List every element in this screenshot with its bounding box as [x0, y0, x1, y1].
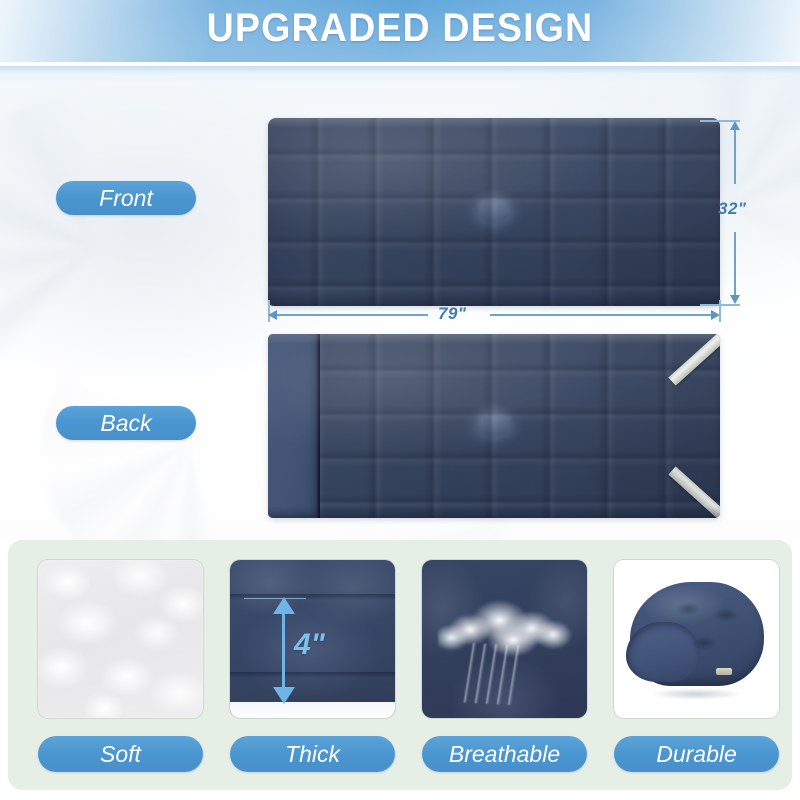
tuft-dimple — [706, 606, 746, 624]
height-tick-bottom — [700, 304, 740, 306]
thickness-arrow-shaft — [282, 602, 285, 698]
width-line-right — [490, 314, 712, 316]
feature-image-soft — [38, 560, 203, 718]
mattress-back-view — [268, 334, 720, 518]
height-line-top — [734, 128, 736, 184]
feature-panel: 4" Soft Thick Breathable — [8, 540, 792, 790]
width-value: 79" — [438, 304, 466, 324]
feature-label-soft-text: Soft — [100, 741, 141, 768]
height-arrow-bottom — [730, 295, 740, 304]
feature-label-soft: Soft — [38, 736, 203, 772]
thickness-arrow-head-bottom — [273, 687, 295, 704]
banner-underglow — [0, 66, 800, 82]
quilt-seam — [230, 672, 395, 678]
mattress-front-view — [268, 118, 720, 306]
mattress-bottom-edge — [268, 506, 720, 518]
page-title: UPGRADED DESIGN — [24, 6, 776, 51]
view-label-front-text: Front — [99, 185, 153, 212]
tuft-dimple — [684, 634, 724, 652]
feature-label-thick: Thick — [230, 736, 395, 772]
feature-label-breathable-text: Breathable — [449, 741, 560, 768]
thickness-value: 4" — [294, 628, 325, 662]
tuft-dimple — [668, 600, 708, 618]
feature-image-durable — [614, 560, 779, 718]
fabric-sheen — [268, 334, 720, 518]
width-line-left — [276, 314, 428, 316]
feature-image-breathable — [422, 560, 587, 718]
fabric-sheen — [268, 118, 720, 306]
width-arrow-left — [268, 310, 277, 320]
mattress-top-edge — [268, 118, 720, 128]
feature-image-thick: 4" — [230, 560, 395, 718]
width-arrow-right — [711, 310, 720, 320]
quilt-seam — [230, 594, 395, 600]
height-value: 32" — [718, 199, 746, 219]
roll-fold — [626, 622, 700, 682]
feature-label-breathable: Breathable — [422, 736, 587, 772]
air-cloud — [438, 594, 572, 660]
view-label-front: Front — [56, 181, 196, 215]
view-label-back-text: Back — [100, 410, 151, 437]
thickness-arrow-head-top — [273, 597, 295, 614]
floor-surface — [230, 702, 395, 718]
feature-label-durable: Durable — [614, 736, 779, 772]
height-arrow-top — [730, 121, 740, 130]
brand-tag — [716, 668, 732, 675]
feature-label-durable-text: Durable — [656, 741, 737, 768]
mattress-top-edge — [268, 334, 720, 344]
fiberfill-texture — [38, 560, 203, 718]
product-infographic: UPGRADED DESIGN Front Back — [0, 0, 800, 800]
mattress-bottom-edge — [268, 294, 720, 306]
view-label-back: Back — [56, 406, 196, 440]
feature-label-thick-text: Thick — [285, 741, 340, 768]
height-line-bottom — [734, 232, 736, 296]
drop-shadow — [630, 686, 762, 702]
